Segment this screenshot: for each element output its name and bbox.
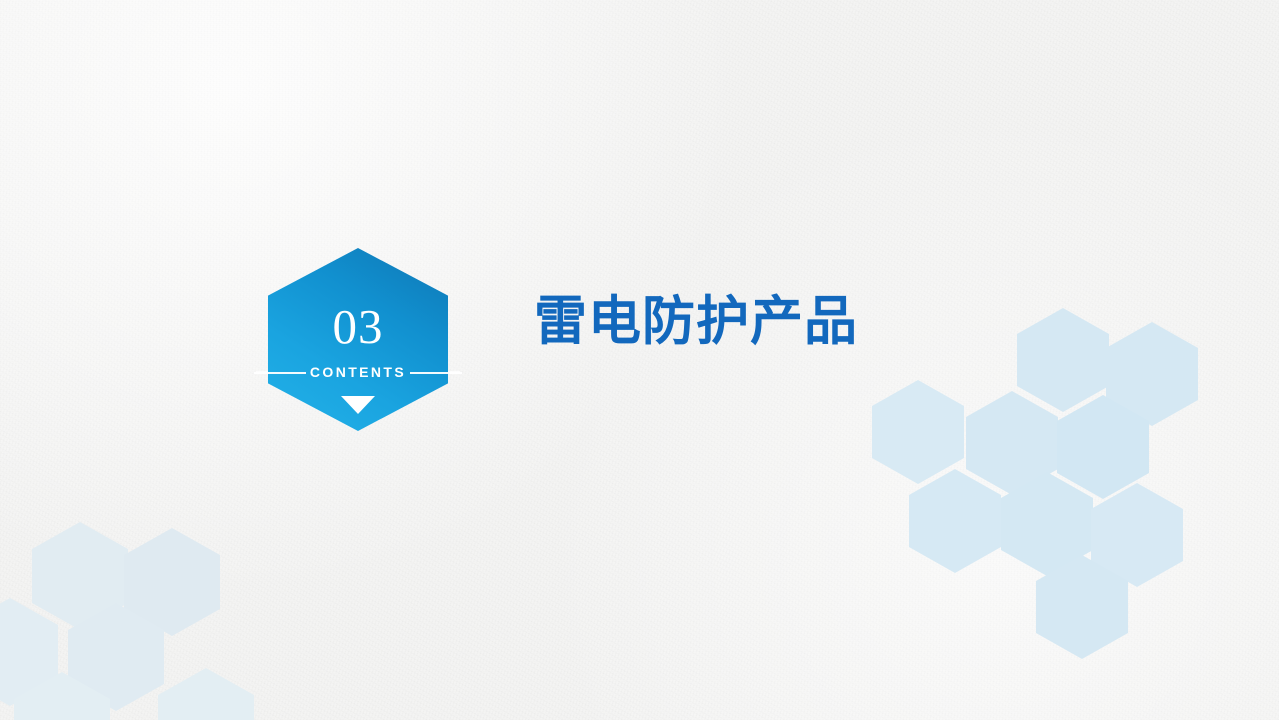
deco-right-hexagon-icon <box>1036 555 1128 659</box>
page-title: 雷电防护产品 <box>534 292 858 352</box>
deco-right-hexagon-icon <box>909 469 1001 573</box>
deco-right-hexagon-icon <box>1017 308 1109 412</box>
deco-right-hexagon-icon <box>1001 472 1093 576</box>
deco-left-hexagon-icon <box>0 598 58 706</box>
paper-texture-overlay <box>0 0 1279 720</box>
deco-left-hexagon-icon <box>158 668 254 720</box>
deco-right-hexagon-icon <box>966 391 1058 495</box>
deco-left-hexagon-icon <box>32 522 128 630</box>
triangle-down-icon <box>341 396 375 414</box>
decorative-hexagon-layer <box>0 0 1279 720</box>
deco-left-hexagon-icon <box>124 528 220 636</box>
deco-right-hexagon-icon <box>872 380 964 484</box>
contents-badge[interactable]: 03 CONTENTS <box>268 248 448 431</box>
badge-rule-right <box>410 372 462 374</box>
badge-rule-left <box>254 372 306 374</box>
section-number: 03 <box>268 300 448 354</box>
deco-left-hexagon-icon <box>68 603 164 711</box>
deco-left-hexagon-icon <box>14 672 110 720</box>
deco-right-hexagon-icon <box>1057 395 1149 499</box>
deco-right-hexagon-icon <box>1091 483 1183 587</box>
deco-right-hexagon-icon <box>1106 322 1198 426</box>
slide-canvas: 03 CONTENTS 雷电防护产品 <box>0 0 1279 720</box>
